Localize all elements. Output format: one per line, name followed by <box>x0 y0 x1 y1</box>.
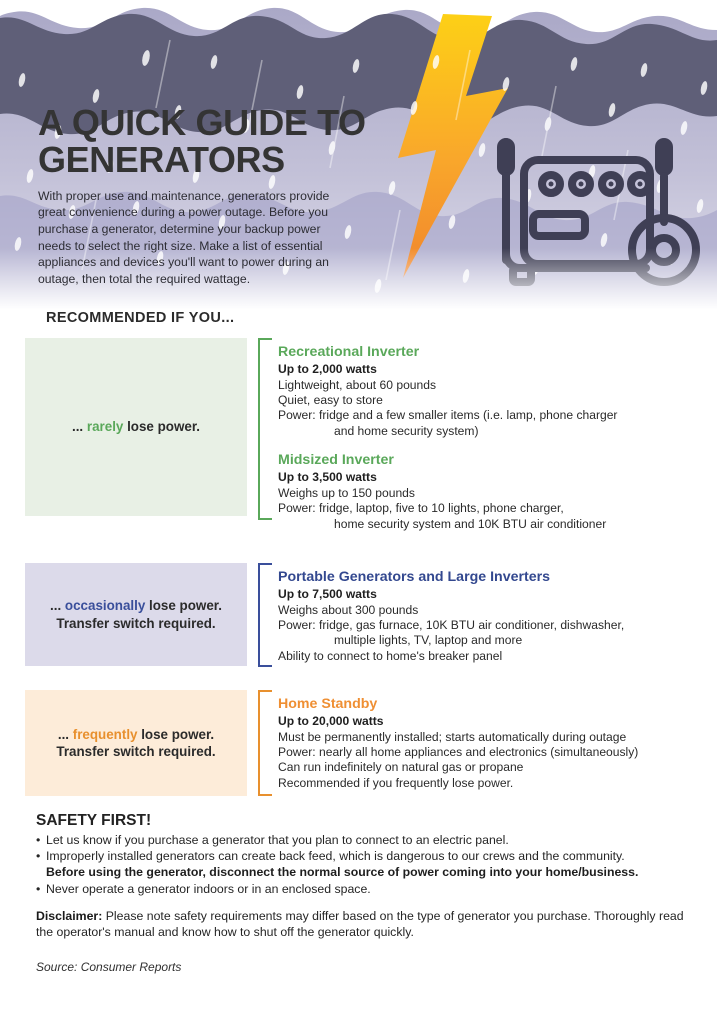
category-label-text: ... rarely lose power. <box>72 418 200 435</box>
safety-bullet-text: Improperly installed generators can crea… <box>46 848 625 864</box>
group-detail-line: Recommended if you frequently lose power… <box>278 776 698 791</box>
generator-group: Midsized InverterUp to 3,500 wattsWeighs… <box>278 452 698 532</box>
group-detail-line: Power: fridge, gas furnace, 10K BTU air … <box>278 618 698 633</box>
safety-bullet-item: •Never operate a generator indoors or in… <box>36 881 696 897</box>
bullet-icon: • <box>36 832 46 848</box>
safety-bullet-list: •Let us know if you purchase a generator… <box>36 832 696 897</box>
safety-title: SAFETY FIRST! <box>36 812 696 830</box>
disclaimer-body: Please note safety requirements may diff… <box>36 909 684 939</box>
category-detail-panel-frequently: Home StandbyUp to 20,000 wattsMust be pe… <box>258 690 698 796</box>
safety-bullet-text: Let us know if you purchase a generator … <box>46 832 509 848</box>
category-label-prefix: ... <box>58 727 73 742</box>
title-line-1: A QUICK GUIDE TO <box>38 102 366 143</box>
group-title: Recreational Inverter <box>278 344 698 361</box>
category-label-prefix: ... <box>50 598 65 613</box>
bullet-icon: • <box>36 848 46 864</box>
intro-paragraph: With proper use and maintenance, generat… <box>38 188 350 288</box>
group-detail-line: Power: fridge and a few smaller items (i… <box>278 408 698 423</box>
category-groups: Portable Generators and Large InvertersU… <box>270 563 698 664</box>
group-detail-line: Weighs about 300 pounds <box>278 603 698 618</box>
group-title: Home Standby <box>278 696 698 713</box>
category-label-rest: lose power. <box>137 727 214 742</box>
group-detail-line: and home security system) <box>278 424 698 439</box>
category-groups: Recreational InverterUp to 2,000 wattsLi… <box>270 338 698 532</box>
category-label-line2: Transfer switch required. <box>56 616 215 631</box>
group-detail-line: Ability to connect to home's breaker pan… <box>278 649 698 664</box>
generator-group: Home StandbyUp to 20,000 wattsMust be pe… <box>278 696 698 791</box>
bullet-icon: • <box>36 881 46 897</box>
disclaimer-label: Disclaimer: <box>36 909 102 923</box>
category-label-box-rarely: ... rarely lose power. <box>25 338 247 516</box>
group-title: Midsized Inverter <box>278 452 698 469</box>
category-label-box-frequently: ... frequently lose power.Transfer switc… <box>25 690 247 796</box>
category-label-rest: lose power. <box>123 419 200 434</box>
safety-bullet-item: •Let us know if you purchase a generator… <box>36 832 696 848</box>
category-label-text: ... frequently lose power.Transfer switc… <box>56 726 215 761</box>
category-accent-word: rarely <box>87 419 123 434</box>
safety-section: SAFETY FIRST! •Let us know if you purcha… <box>36 812 696 897</box>
group-detail-line: Power: fridge, laptop, five to 10 lights… <box>278 501 698 516</box>
title-line-2: GENERATORS <box>38 139 285 180</box>
safety-bullet-item: •Improperly installed generators can cre… <box>36 848 696 864</box>
category-label-line2: Transfer switch required. <box>56 744 215 759</box>
group-detail-line: Lightweight, about 60 pounds <box>278 378 698 393</box>
recommended-heading: RECOMMENDED IF YOU... <box>46 310 234 326</box>
title-block: A QUICK GUIDE TO GENERATORS With proper … <box>38 104 438 287</box>
category-detail-panel-rarely: Recreational InverterUp to 2,000 wattsLi… <box>258 338 698 520</box>
group-detail-line: Quiet, easy to store <box>278 393 698 408</box>
group-detail-line: multiple lights, TV, laptop and more <box>278 633 698 648</box>
group-wattage: Up to 3,500 watts <box>278 470 698 485</box>
category-accent-word: frequently <box>73 727 138 742</box>
group-wattage: Up to 7,500 watts <box>278 587 698 602</box>
category-groups: Home StandbyUp to 20,000 wattsMust be pe… <box>270 690 698 791</box>
safety-subnote-bold: Before using the generator, disconnect t… <box>36 864 696 880</box>
category-label-rest: lose power. <box>145 598 222 613</box>
infographic-page: A QUICK GUIDE TO GENERATORS With proper … <box>0 0 717 1024</box>
generator-group: Recreational InverterUp to 2,000 wattsLi… <box>278 344 698 439</box>
disclaimer-text: Disclaimer: Please note safety requireme… <box>36 908 696 941</box>
group-detail-line: Can run indefinitely on natural gas or p… <box>278 760 698 775</box>
category-label-prefix: ... <box>72 419 87 434</box>
page-title: A QUICK GUIDE TO GENERATORS <box>38 104 438 179</box>
safety-bullet-text: Never operate a generator indoors or in … <box>46 881 371 897</box>
group-title: Portable Generators and Large Inverters <box>278 569 698 586</box>
category-label-text: ... occasionally lose power.Transfer swi… <box>50 597 222 632</box>
group-detail-line: Weighs up to 150 pounds <box>278 486 698 501</box>
group-gap <box>278 439 698 452</box>
category-detail-panel-occasionally: Portable Generators and Large InvertersU… <box>258 563 698 667</box>
group-wattage: Up to 20,000 watts <box>278 714 698 729</box>
group-wattage: Up to 2,000 watts <box>278 362 698 377</box>
group-detail-line: Must be permanently installed; starts au… <box>278 730 698 745</box>
generator-group: Portable Generators and Large InvertersU… <box>278 569 698 664</box>
group-detail-line: Power: nearly all home appliances and el… <box>278 745 698 760</box>
group-detail-line: home security system and 10K BTU air con… <box>278 517 698 532</box>
category-accent-word: occasionally <box>65 598 145 613</box>
source-credit: Source: Consumer Reports <box>36 960 181 974</box>
category-label-box-occasionally: ... occasionally lose power.Transfer swi… <box>25 563 247 666</box>
